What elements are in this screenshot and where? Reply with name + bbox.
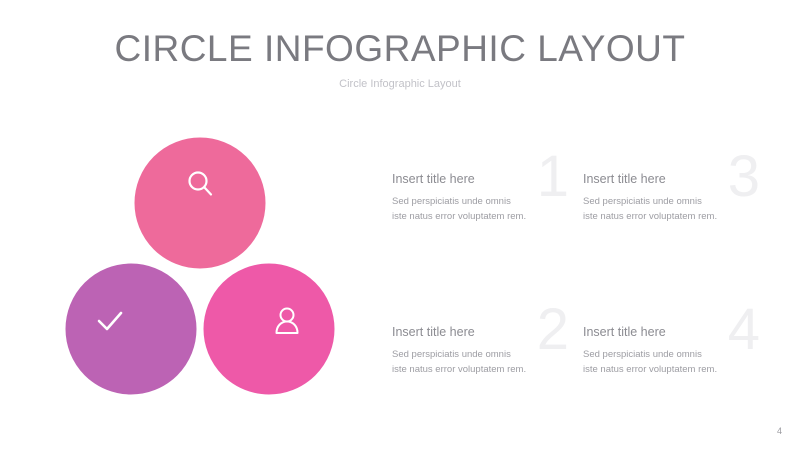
- block-title: Insert title here: [583, 172, 768, 186]
- info-block-2[interactable]: 2 Insert title here Sed perspiciatis und…: [392, 325, 577, 377]
- info-block-3[interactable]: 3 Insert title here Sed perspiciatis und…: [583, 172, 768, 224]
- block-body: Sed perspiciatis unde omnis iste natus e…: [392, 195, 577, 224]
- block-title: Insert title here: [583, 325, 768, 339]
- block-title: Insert title here: [392, 172, 577, 186]
- info-block-1[interactable]: 1 Insert title here Sed perspiciatis und…: [392, 172, 577, 224]
- page-number: 4: [777, 426, 782, 436]
- block-body-line-2: iste natus error voluptatem rem.: [583, 363, 768, 378]
- page-subtitle: Circle Infographic Layout: [0, 78, 800, 90]
- block-body-line-2: iste natus error voluptatem rem.: [583, 210, 768, 225]
- block-body-line-1: Sed perspiciatis unde omnis: [392, 195, 577, 210]
- block-body: Sed perspiciatis unde omnis iste natus e…: [392, 348, 577, 377]
- slide-canvas: CIRCLE INFOGRAPHIC LAYOUT Circle Infogra…: [0, 0, 800, 450]
- page-title: CIRCLE INFOGRAPHIC LAYOUT: [0, 28, 800, 70]
- block-body-line-1: Sed perspiciatis unde omnis: [583, 348, 768, 363]
- block-title: Insert title here: [392, 325, 577, 339]
- block-body: Sed perspiciatis unde omnis iste natus e…: [583, 348, 768, 377]
- block-body-line-2: iste natus error voluptatem rem.: [392, 210, 577, 225]
- info-block-4[interactable]: 4 Insert title here Sed perspiciatis und…: [583, 325, 768, 377]
- block-body: Sed perspiciatis unde omnis iste natus e…: [583, 195, 768, 224]
- block-body-line-2: iste natus error voluptatem rem.: [392, 363, 577, 378]
- block-body-line-1: Sed perspiciatis unde omnis: [392, 348, 577, 363]
- venn-diagram: [55, 125, 355, 410]
- block-body-line-1: Sed perspiciatis unde omnis: [583, 195, 768, 210]
